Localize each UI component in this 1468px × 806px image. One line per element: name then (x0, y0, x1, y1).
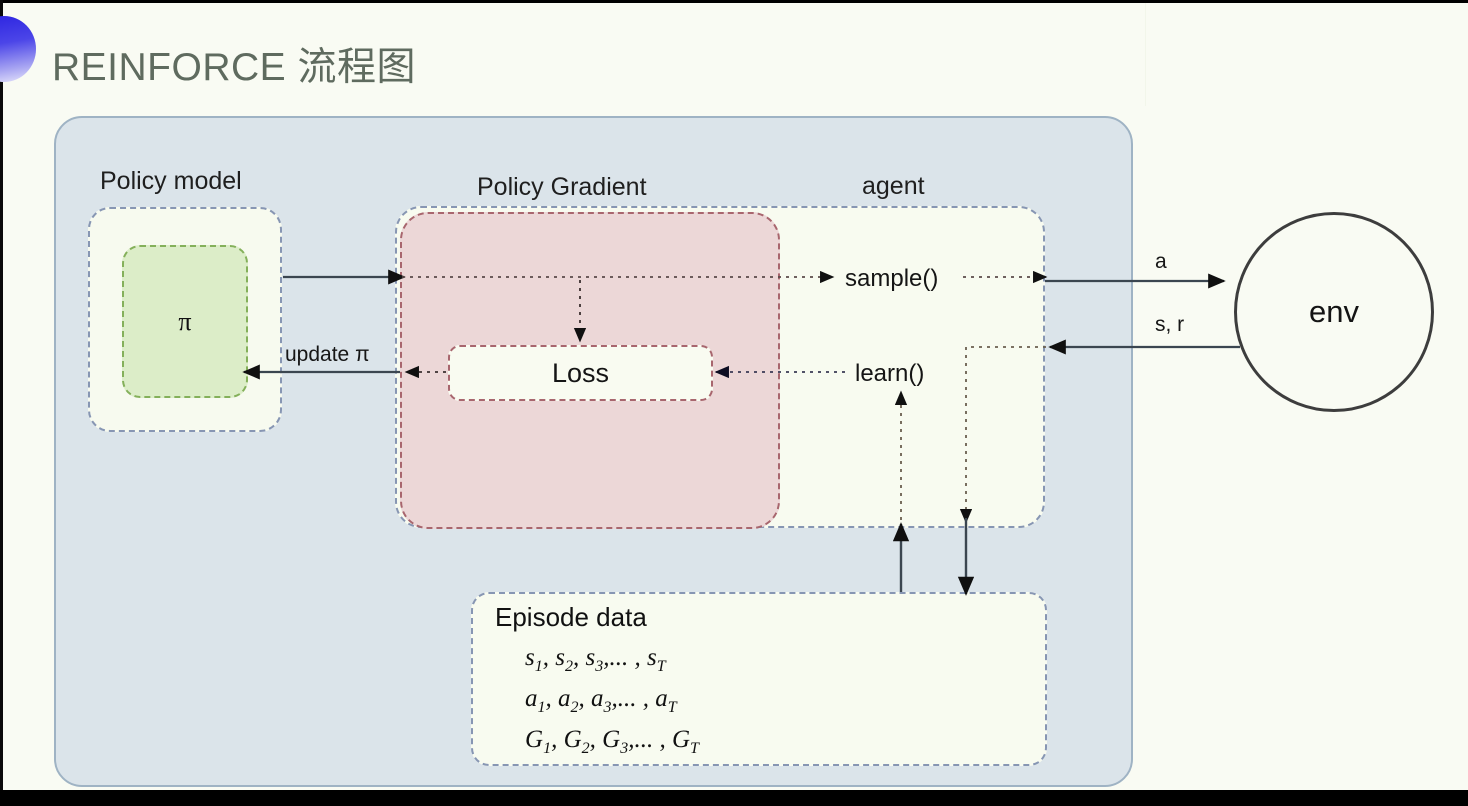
policy-gradient-caption: Policy Gradient (477, 173, 647, 202)
agent-method-sample[interactable]: sample() (845, 265, 938, 293)
episode-data-caption: Episode data (495, 602, 647, 633)
capture-frame-left (0, 0, 3, 806)
capture-frame-bottom (0, 790, 1468, 806)
loss-node[interactable]: Loss (448, 345, 713, 401)
episode-row-actions: a1, a2, a3,... , aT (525, 685, 677, 717)
episode-row-states: s1, s2, s3,... , sT (525, 644, 666, 676)
capture-frame-top (0, 0, 1468, 3)
env-node[interactable]: env (1234, 212, 1434, 412)
policy-model-caption: Policy model (100, 167, 242, 196)
edge-label-state-reward: s, r (1155, 313, 1184, 337)
page-title: REINFORCE 流程图 (52, 36, 416, 92)
edge-label-action: a (1155, 250, 1167, 274)
slide-seam (1145, 3, 1146, 106)
episode-data-node[interactable]: Episode data s1, s2, s3,... , sT a1, a2,… (471, 592, 1047, 766)
policy-pi-node[interactable]: π (122, 245, 248, 398)
episode-row-returns: G1, G2, G3,... , GT (525, 726, 699, 758)
pi-label: π (178, 307, 191, 337)
gradient-circle-decoration-icon (0, 16, 36, 82)
agent-method-learn[interactable]: learn() (855, 360, 924, 388)
env-label: env (1309, 294, 1359, 330)
slide-canvas: REINFORCE 流程图 agent sample() learn() Pol… (0, 0, 1468, 806)
agent-caption: agent (862, 172, 925, 201)
edge-label-update-pi: update π (285, 343, 370, 367)
loss-label: Loss (552, 358, 609, 389)
